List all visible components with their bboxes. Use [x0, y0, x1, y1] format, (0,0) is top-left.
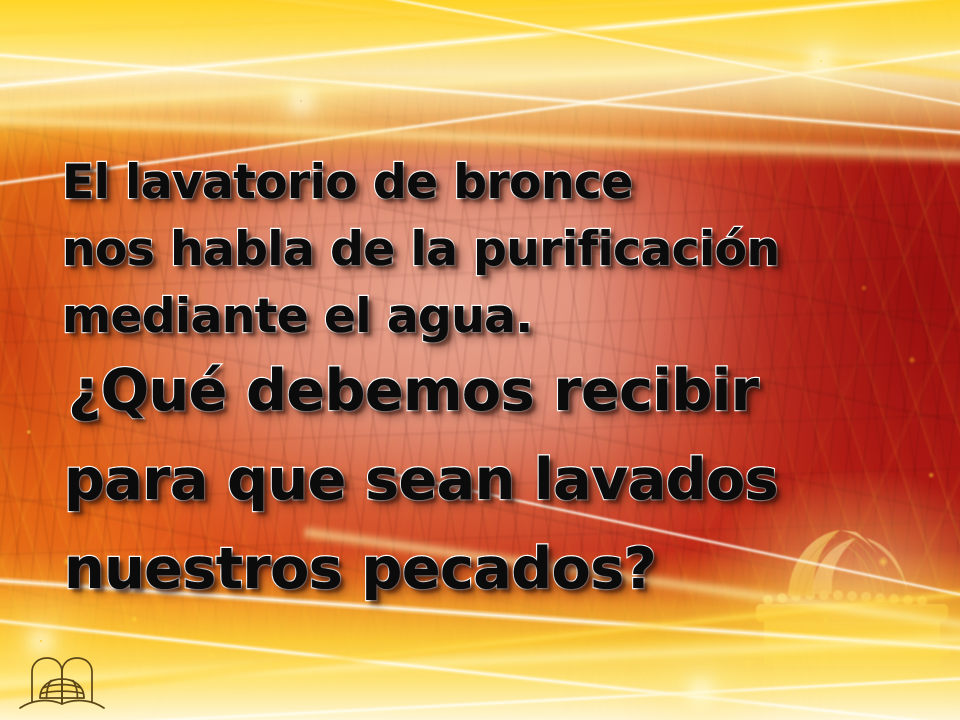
slide-canvas: El lavatorio de bronce nos habla de la p… — [0, 0, 960, 720]
question-line-2: para que sean lavados — [64, 447, 778, 513]
slide-text-block: El lavatorio de bronce nos habla de la p… — [0, 0, 960, 720]
statement-line-2: nos habla de la purificación — [62, 222, 779, 277]
question-line-3: nuestros pecados? — [64, 536, 656, 602]
open-bible-globe-icon — [18, 652, 106, 714]
question-line-1: ¿Qué debemos recibir — [68, 358, 758, 424]
statement-line-3: mediante el agua. — [62, 289, 533, 344]
statement-line-1: El lavatorio de bronce — [62, 155, 633, 210]
open-bible-globe-logo — [18, 652, 106, 714]
